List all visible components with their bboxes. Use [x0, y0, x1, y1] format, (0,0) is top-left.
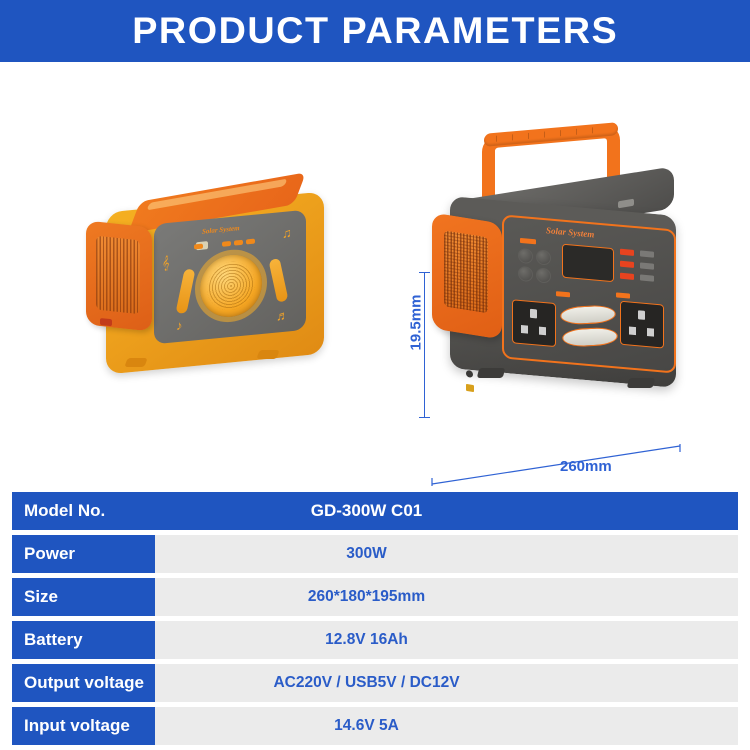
- specification-table: Model No. GD-300W C01 Power 300W Size 26…: [12, 492, 738, 750]
- panel-round-button: [536, 249, 551, 265]
- lcd-display: [562, 244, 614, 283]
- product-left-accent-arc: [269, 258, 289, 303]
- table-row: Power 300W: [12, 535, 738, 573]
- height-dimension-label: 19.5mm: [407, 295, 424, 351]
- control-button: [194, 244, 203, 250]
- spec-label: Battery: [12, 621, 155, 659]
- product-right-foot: [627, 378, 655, 388]
- product-right-brand-label: Solar System: [546, 225, 594, 239]
- led-strip: [561, 327, 619, 348]
- table-row: Input voltage 14.6V 5A: [12, 707, 738, 745]
- spec-label: Model No.: [12, 492, 155, 530]
- width-dimension-label: 260mm: [560, 458, 612, 475]
- spec-value: 12.8V 16Ah: [155, 621, 738, 659]
- product-left-foot: [256, 350, 279, 359]
- spec-label: Power: [12, 535, 155, 573]
- product-right-side-speaker-housing: [432, 212, 502, 339]
- panel-label-tag: [556, 291, 570, 297]
- product-showcase: Solar System 𝄞 ♫ ♪ ♬: [0, 62, 750, 492]
- table-row: Battery 12.8V 16Ah: [12, 621, 738, 659]
- page-title: PRODUCT PARAMETERS: [132, 10, 618, 52]
- panel-round-button: [518, 266, 533, 282]
- control-button: [234, 240, 243, 246]
- fuse-icon: [466, 384, 474, 392]
- music-note-icon: 𝄞: [162, 255, 170, 272]
- product-image-front-view: Solar System: [432, 130, 702, 420]
- table-row: Output voltage AC220V / USB5V / DC12V: [12, 664, 738, 702]
- speaker-grille-icon: [200, 252, 262, 320]
- spec-value: 300W: [155, 535, 738, 573]
- panel-switch: [620, 249, 634, 256]
- ac-socket-icon: [512, 299, 556, 347]
- control-button: [222, 241, 231, 247]
- product-left-side-speaker-housing: [86, 221, 152, 332]
- panel-label-tag: [520, 238, 536, 244]
- table-row: Model No. GD-300W C01: [12, 492, 738, 530]
- spec-value: GD-300W C01: [155, 492, 738, 530]
- control-button: [246, 239, 255, 245]
- panel-switch: [620, 261, 634, 268]
- side-speaker-grille-icon: [96, 236, 140, 315]
- width-dimension-line: [430, 444, 683, 486]
- spec-label: Size: [12, 578, 155, 616]
- product-right-foot: [477, 368, 505, 378]
- panel-switch-secondary: [640, 274, 654, 281]
- side-speaker-grille-icon: [444, 230, 488, 313]
- panel-switch: [620, 273, 634, 280]
- spec-label: Output voltage: [12, 664, 155, 702]
- panel-label-tag: [616, 292, 630, 298]
- ac-socket-icon: [620, 301, 664, 349]
- product-left-front-face: Solar System 𝄞 ♫ ♪ ♬: [154, 210, 306, 345]
- product-left-control-strip: [194, 234, 264, 254]
- led-strip: [559, 304, 617, 325]
- product-left-foot: [124, 358, 147, 367]
- spec-label: Input voltage: [12, 707, 155, 745]
- music-note-icon: ♫: [282, 225, 292, 241]
- product-left-accent-arc: [176, 269, 196, 314]
- spec-value: AC220V / USB5V / DC12V: [155, 664, 738, 702]
- panel-switch-secondary: [640, 250, 654, 257]
- product-image-rear-view: Solar System 𝄞 ♫ ♪ ♬: [88, 182, 338, 382]
- panel-round-button: [536, 267, 551, 283]
- spec-value: 260*180*195mm: [155, 578, 738, 616]
- music-note-icon: ♬: [276, 307, 289, 323]
- panel-switch-secondary: [640, 262, 654, 269]
- music-note-icon: ♪: [176, 318, 183, 334]
- control-panel: Solar System: [502, 214, 676, 373]
- table-row: Size 260*180*195mm: [12, 578, 738, 616]
- panel-round-button: [518, 248, 533, 264]
- page-header-banner: PRODUCT PARAMETERS: [0, 0, 750, 62]
- dc-port-icon: [466, 370, 473, 378]
- product-left-brand-label: Solar System: [202, 224, 240, 236]
- spec-value: 14.6V 5A: [155, 707, 738, 745]
- power-knob-icon: [100, 318, 112, 326]
